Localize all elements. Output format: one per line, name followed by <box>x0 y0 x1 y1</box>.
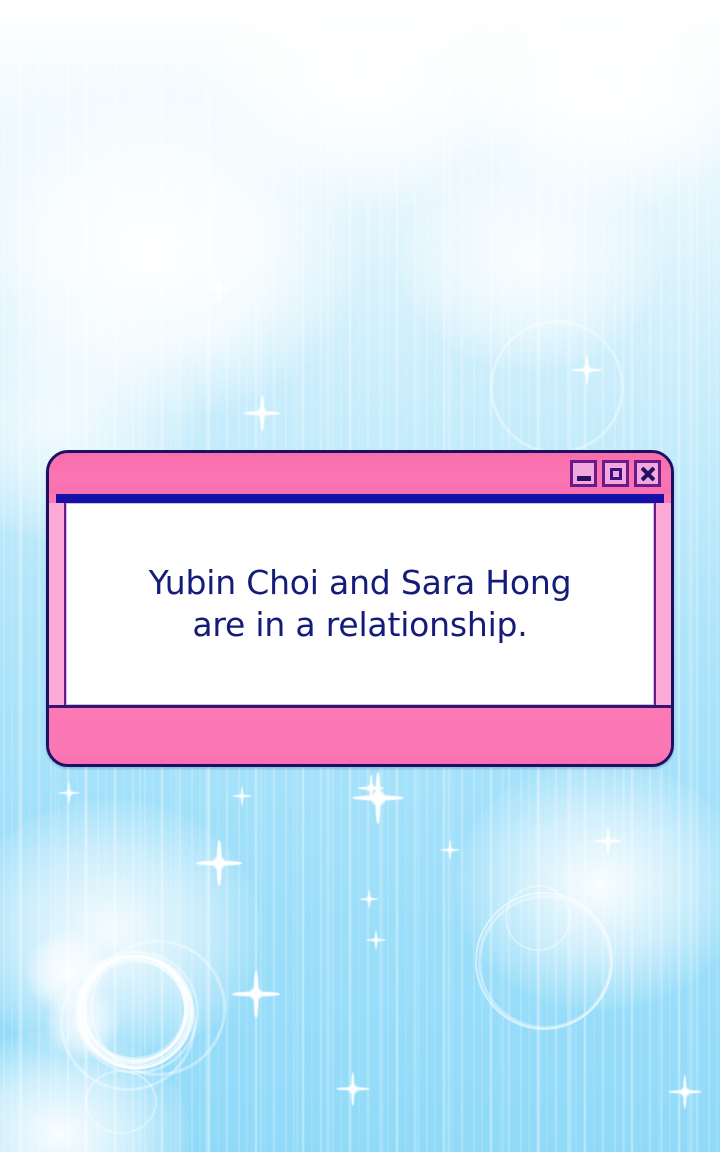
dialog-message-line-2: are in a relationship. <box>149 604 572 646</box>
sparkle-star-6 <box>232 970 280 1018</box>
close-button[interactable] <box>634 460 661 487</box>
sparkle-star-12 <box>366 930 386 950</box>
sparkle-star-4 <box>232 786 252 806</box>
window-controls-group <box>570 460 661 487</box>
sparkle-star-1 <box>244 395 280 431</box>
sparkle-star-9 <box>440 840 460 860</box>
dialog-content-pane: Yubin Choi and Sara Hong are in a relati… <box>66 503 654 705</box>
bokeh-ring-bottomleft-small <box>85 1070 157 1134</box>
maximize-icon <box>610 468 622 480</box>
sparkle-star-14 <box>572 355 602 385</box>
minimize-icon <box>577 476 591 481</box>
bokeh-ring-left-upper <box>90 940 226 1076</box>
relationship-announcement-dialog: Yubin Choi and Sara Hong are in a relati… <box>46 450 674 767</box>
dialog-left-edge-strip <box>49 503 66 705</box>
sparkle-star-3 <box>58 782 80 804</box>
sparkle-star-10 <box>668 1075 702 1109</box>
bokeh-ring-above-dialog-right <box>490 320 624 454</box>
sparkle-star-13 <box>206 275 232 301</box>
sparkle-star-7 <box>336 1072 370 1106</box>
scene-root: Yubin Choi and Sara Hong are in a relati… <box>0 0 720 1152</box>
sparkle-star-5 <box>196 840 242 886</box>
dialog-right-edge-strip <box>654 503 671 705</box>
dialog-footer-bar <box>49 705 671 764</box>
dialog-titlebar[interactable] <box>49 453 671 494</box>
close-icon <box>640 466 656 482</box>
sparkle-star-8 <box>594 827 622 855</box>
sparkle-star-15 <box>360 890 378 908</box>
maximize-button[interactable] <box>602 460 629 487</box>
sparkle-star-11 <box>358 775 384 801</box>
dialog-message: Yubin Choi and Sara Hong are in a relati… <box>131 562 590 646</box>
bokeh-ring-bottom-right-inner <box>505 885 571 951</box>
dialog-message-line-1: Yubin Choi and Sara Hong <box>149 562 572 604</box>
minimize-button[interactable] <box>570 460 597 487</box>
bokeh-ring-medium-left <box>80 955 84 959</box>
